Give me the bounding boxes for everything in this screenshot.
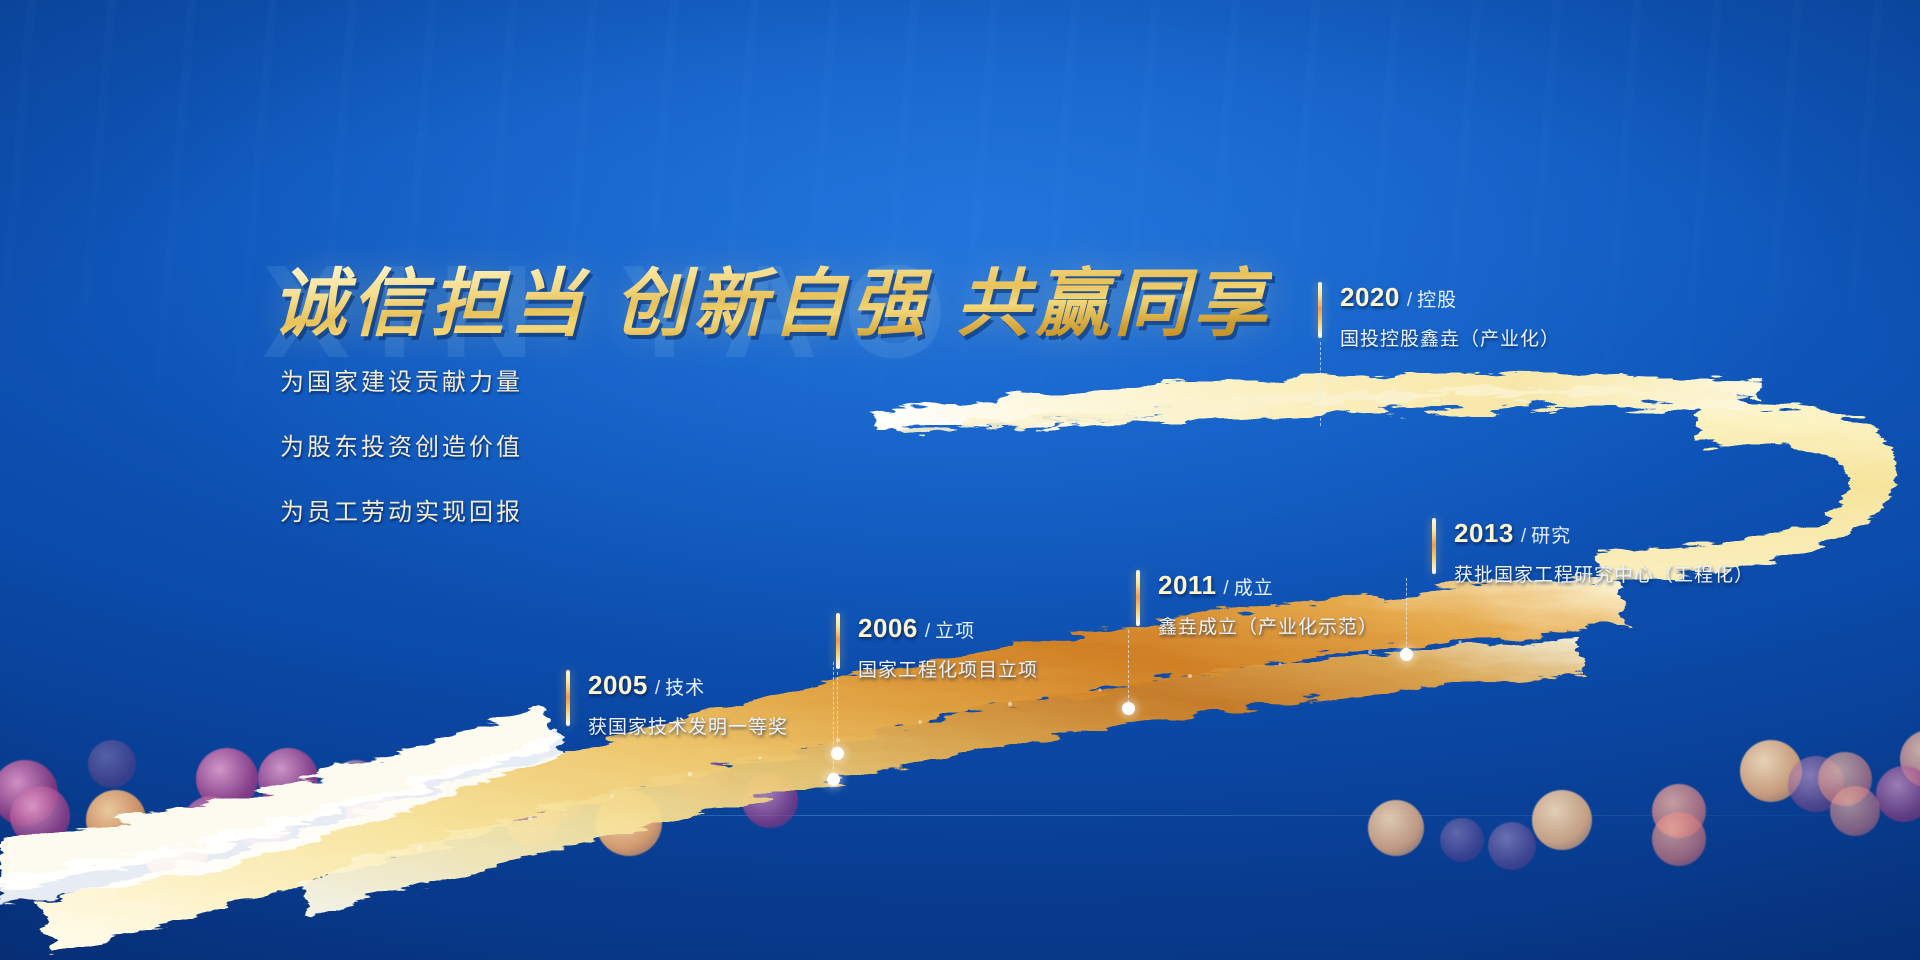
page-title: 诚信担当创新自强共赢同享 [272,244,1272,351]
marker-year: 2005 [588,670,648,700]
marker-heading: 2006/立项 [858,613,1038,644]
marker-heading: 2020/控股 [1340,282,1560,313]
marker-separator: / [1521,526,1526,547]
timeline-dot-2005[interactable] [827,773,840,786]
headline-part-3: 共赢同享 [956,261,1272,347]
bokeh-light [330,760,382,812]
slogan-line: 为员工劳动实现回报 [280,492,523,527]
timeline-event-2005[interactable]: 2005/技术 获国家技术发明一等奖 [566,670,788,739]
timeline-event-2020[interactable]: 2020/控股 国投控股鑫垚（产业化） [1318,282,1560,351]
bokeh-light [88,740,136,788]
slogan-line: 为国家建设贡献力量 [280,362,523,397]
bokeh-light [1652,812,1706,866]
bokeh-light [10,786,70,846]
timeline-dot-2006[interactable] [831,747,844,760]
marker-keyword: 研究 [1531,526,1571,547]
marker-separator: / [655,678,660,699]
marker-keyword: 成立 [1234,578,1274,599]
headline-part-2: 创新自强 [614,261,930,347]
marker-heading: 2005/技术 [588,670,788,701]
marker-accent-bar [1318,282,1322,338]
marker-separator: / [1223,578,1228,599]
marker-year: 2013 [1454,518,1514,548]
marker-description: 国投控股鑫垚（产业化） [1340,324,1560,351]
marker-keyword: 技术 [665,678,705,699]
marker-heading: 2013/研究 [1454,518,1754,549]
leader-line-2006 [837,672,838,753]
headline-part-1: 诚信担当 [272,261,588,347]
bokeh-light [742,772,798,828]
timeline-event-2006[interactable]: 2006/立项 国家工程化项目立项 [836,613,1038,682]
marker-year: 2006 [858,613,918,643]
timeline-event-2011[interactable]: 2011/成立 鑫垚成立（产业化示范） [1136,570,1378,639]
marker-separator: / [925,621,930,642]
marker-description: 获批国家工程研究中心（工程化） [1454,560,1754,587]
marker-accent-bar [836,613,840,669]
bokeh-light [1830,786,1880,836]
marker-keyword: 立项 [935,621,975,642]
bokeh-light [1532,790,1592,850]
marker-year: 2011 [1158,570,1216,600]
leader-line-2005 [833,662,834,779]
banner-canvas: XIN YAO 诚信担当创新自强共赢同享 为国家建设贡献力量 为股东投资创造价值… [0,0,1920,960]
bokeh-light [1488,822,1536,870]
marker-accent-bar [1136,570,1140,626]
marker-description: 国家工程化项目立项 [858,655,1038,682]
slogan-line: 为股东投资创造价值 [280,427,523,462]
bokeh-light [1440,818,1484,862]
marker-description: 鑫垚成立（产业化示范） [1158,612,1378,639]
marker-keyword: 控股 [1417,290,1457,311]
marker-accent-bar [1432,518,1436,574]
bokeh-light [676,752,730,806]
leader-line-2020 [1320,342,1321,426]
leader-line-2011 [1128,630,1129,708]
bokeh-light [182,796,240,854]
marker-year: 2020 [1340,282,1400,312]
timeline-dot-2013[interactable] [1400,648,1413,661]
bokeh-light [380,800,434,854]
bokeh-light [596,790,662,856]
bokeh-light [86,790,146,850]
marker-separator: / [1407,290,1412,311]
marker-heading: 2011/成立 [1158,570,1378,601]
slogan-list: 为国家建设贡献力量 为股东投资创造价值 为员工劳动实现回报 [280,362,523,557]
bokeh-light [1368,800,1424,856]
timeline-event-2013[interactable]: 2013/研究 获批国家工程研究中心（工程化） [1432,518,1754,587]
marker-description: 获国家技术发明一等奖 [588,712,788,739]
bokeh-light [504,790,560,846]
marker-accent-bar [566,670,570,726]
timeline-dot-2011[interactable] [1122,702,1135,715]
leader-line-2013 [1406,578,1407,654]
bokeh-light [258,748,318,808]
